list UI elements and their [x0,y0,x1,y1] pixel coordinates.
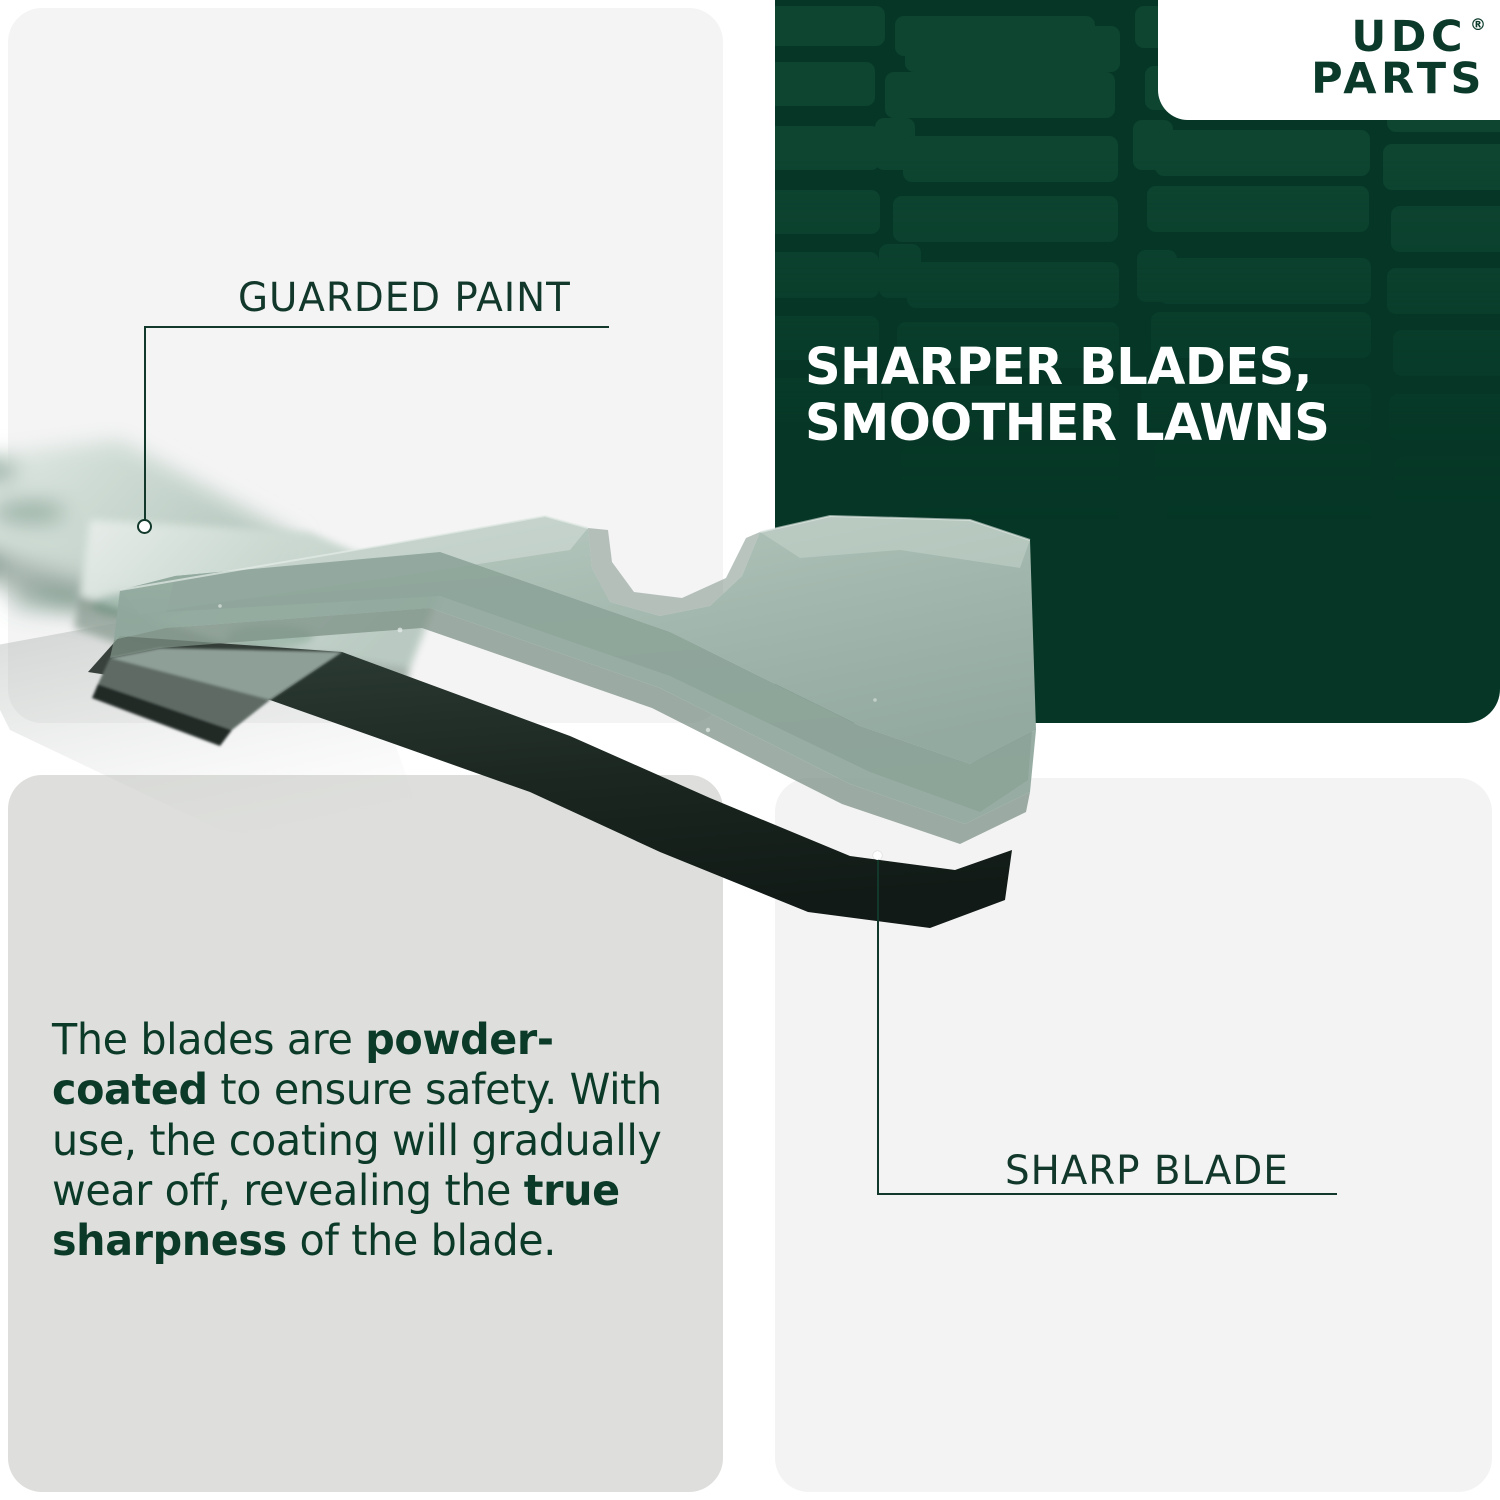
callout-leader-vertical-sharp-blade [877,858,879,1195]
panel-top-left [8,8,723,723]
callout-marker-guarded-paint [137,519,152,534]
registered-trademark-icon: ® [1470,17,1486,33]
callout-label-guarded-paint: GUARDED PAINT [238,275,571,321]
headline-line-2: SMOOTHER LAWNS [805,396,1465,452]
callout-leader-horizontal-sharp-blade [877,1193,1337,1195]
infographic-canvas: UDC ® PARTS SHARPER BLADES, SMOOTHER LAW… [0,0,1500,1500]
brand-logo-badge: UDC ® PARTS [1158,0,1500,120]
logo-line-udc: UDC ® [1351,16,1486,58]
logo-line-parts: PARTS [1311,58,1486,100]
body-seg-3: of the blade. [287,1216,556,1266]
callout-marker-sharp-blade [873,851,882,860]
logo-text-udc: UDC [1351,16,1467,58]
body-paragraph: The blades are powder-coated to ensure s… [52,1015,666,1266]
callout-leader-vertical-guarded-paint [144,326,146,524]
panel-bottom-right [775,778,1492,1492]
callout-leader-horizontal-guarded-paint [144,326,609,328]
page-headline: SHARPER BLADES, SMOOTHER LAWNS [805,340,1465,452]
body-seg-1: The blades are [52,1015,365,1065]
headline-line-1: SHARPER BLADES, [805,340,1465,396]
callout-label-sharp-blade: SHARP BLADE [1005,1148,1289,1194]
panel-green-header: UDC ® PARTS SHARPER BLADES, SMOOTHER LAW… [775,0,1500,723]
